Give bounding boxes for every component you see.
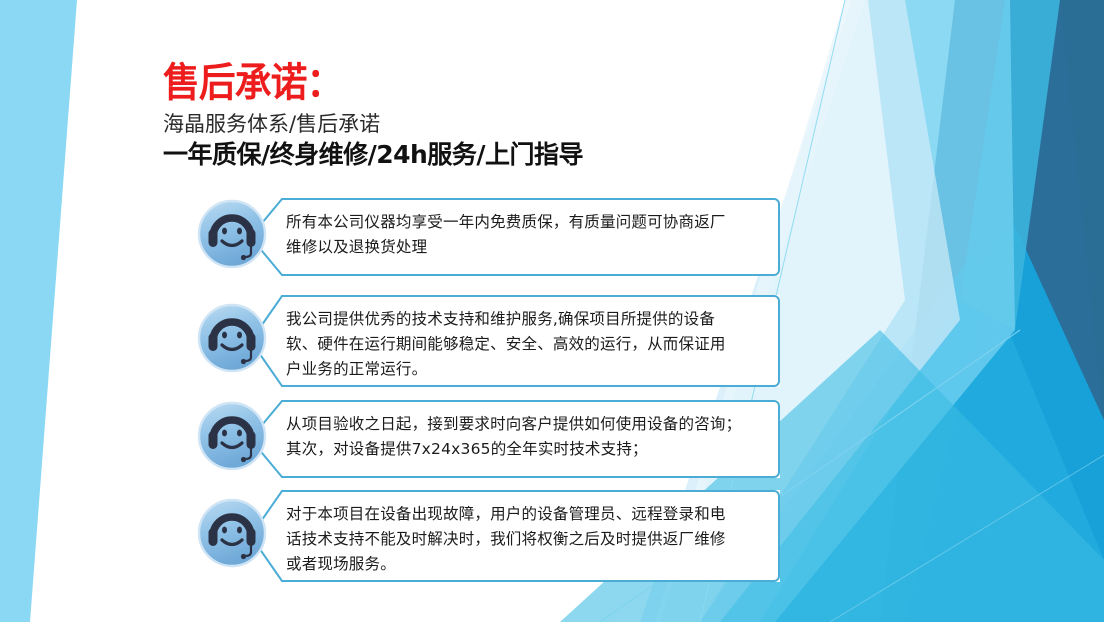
callout-line: 户业务的正常运行。 (286, 357, 766, 382)
slide-canvas: 售后承诺： 海晶服务体系/售后承诺 一年质保/终身维修/24h服务/上门指导 (0, 0, 1104, 622)
headset-support-icon (196, 497, 268, 569)
decor-cyan-sliver (960, 0, 1060, 330)
callout-text: 从项目验收之日起，接到要求时向客户提供如何使用设备的咨询； 其次，对设备提供7x… (256, 400, 780, 472)
callout-line: 话技术支持不能及时解决时，我们将权衡之后及时提供返厂维修 (286, 527, 766, 552)
page-title: 售后承诺： (163, 62, 807, 104)
headset-support-icon (196, 198, 268, 270)
decor-dark-wedge (905, 0, 1104, 622)
callout-row: 我公司提供优秀的技术支持和维护服务,确保项目所提供的设备 软、硬件在运行期间能够… (196, 295, 780, 387)
decor-azure-large (760, 215, 1104, 622)
callout-line: 维修以及退换货处理 (286, 235, 766, 260)
decor-dark-wedge-2 (880, 0, 1104, 622)
callout-row: 对于本项目在设备出现故障，用户的设备管理员、远程登录和电 话技术支持不能及时解决… (196, 490, 780, 582)
callout-bubble: 对于本项目在设备出现故障，用户的设备管理员、远程登录和电 话技术支持不能及时解决… (256, 490, 780, 582)
callout-line: 其次，对设备提供7x24x365的全年实时技术支持； (286, 437, 766, 462)
headset-support-icon (196, 302, 268, 374)
callout-line: 或者现场服务。 (286, 552, 766, 577)
slide-header: 售后承诺： 海晶服务体系/售后承诺 一年质保/终身维修/24h服务/上门指导 (163, 62, 863, 170)
callout-row: 所有本公司仪器均享受一年内免费质保，有质量问题可协商返厂 维修以及退换货处理 (196, 198, 780, 276)
breadcrumb-subtitle: 海晶服务体系/售后承诺 (163, 112, 863, 136)
callout-line: 软、硬件在运行期间能够稳定、安全、高效的运行，从而保证用 (286, 332, 766, 357)
callout-text: 我公司提供优秀的技术支持和维护服务,确保项目所提供的设备 软、硬件在运行期间能够… (256, 295, 780, 392)
callout-bubble: 所有本公司仪器均享受一年内免费质保，有质量问题可协商返厂 维修以及退换货处理 (256, 198, 780, 276)
decor-hairline-3 (830, 455, 1104, 622)
callout-bubble: 从项目验收之日起，接到要求时向客户提供如何使用设备的咨询； 其次，对设备提供7x… (256, 400, 780, 478)
callout-line: 所有本公司仪器均享受一年内免费质保，有质量问题可协商返厂 (286, 210, 766, 235)
left-blue-band (0, 0, 77, 622)
headset-support-icon (196, 400, 268, 472)
tagline: 一年质保/终身维修/24h服务/上门指导 (163, 141, 863, 170)
callout-line: 对于本项目在设备出现故障，用户的设备管理员、远程登录和电 (286, 502, 766, 527)
callout-row: 从项目验收之日起，接到要求时向客户提供如何使用设备的咨询； 其次，对设备提供7x… (196, 400, 780, 478)
callout-line: 从项目验收之日起，接到要求时向客户提供如何使用设备的咨询； (286, 412, 766, 437)
callout-bubble: 我公司提供优秀的技术支持和维护服务,确保项目所提供的设备 软、硬件在运行期间能够… (256, 295, 780, 387)
callout-text: 所有本公司仪器均享受一年内免费质保，有质量问题可协商返厂 维修以及退换货处理 (256, 198, 780, 270)
callout-text: 对于本项目在设备出现故障，用户的设备管理员、远程登录和电 话技术支持不能及时解决… (256, 490, 780, 587)
callout-line: 我公司提供优秀的技术支持和维护服务,确保项目所提供的设备 (286, 307, 766, 332)
